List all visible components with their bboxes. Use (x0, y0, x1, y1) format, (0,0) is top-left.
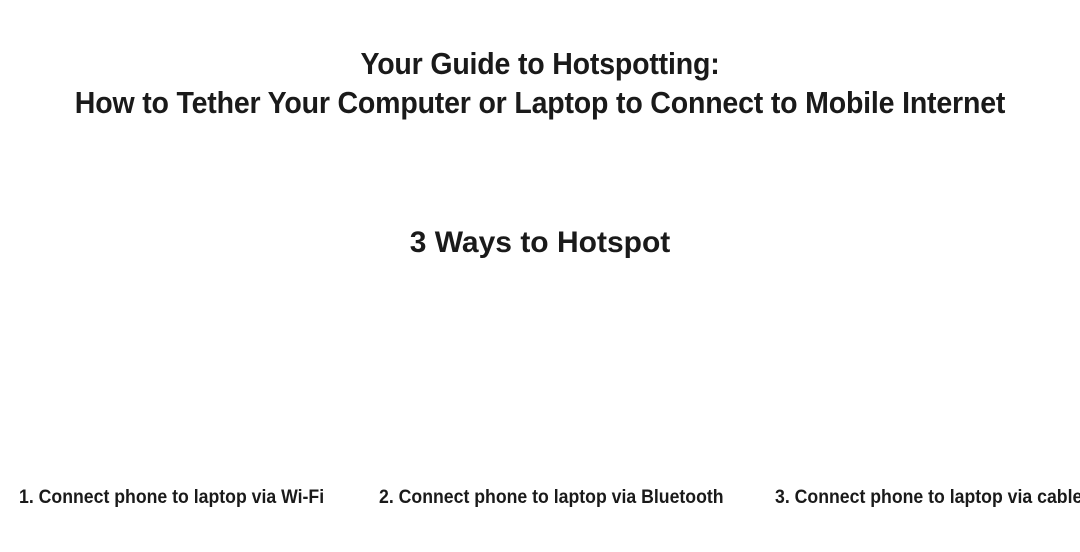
caption-row: 1. Connect phone to laptop via Wi-Fi 2. … (0, 486, 1080, 514)
title-line-2: How to Tether Your Computer or Laptop to… (43, 83, 1037, 122)
illustration-slot-wifi (0, 285, 360, 480)
section-heading: 3 Ways to Hotspot (0, 223, 1080, 263)
caption-method-2: 2. Connect phone to laptop via Bluetooth (379, 486, 724, 510)
title-line-1: Your Guide to Hotspotting: (43, 44, 1037, 83)
infographic-page: Your Guide to Hotspotting: How to Tether… (0, 0, 1080, 552)
illustration-slot-cable (720, 285, 1080, 480)
illustration-band (0, 285, 1080, 480)
caption-method-1: 1. Connect phone to laptop via Wi-Fi (19, 486, 324, 510)
page-title: Your Guide to Hotspotting: How to Tether… (0, 44, 1080, 122)
caption-method-3: 3. Connect phone to laptop via cable (775, 486, 1080, 510)
illustration-slot-bluetooth (360, 285, 720, 480)
